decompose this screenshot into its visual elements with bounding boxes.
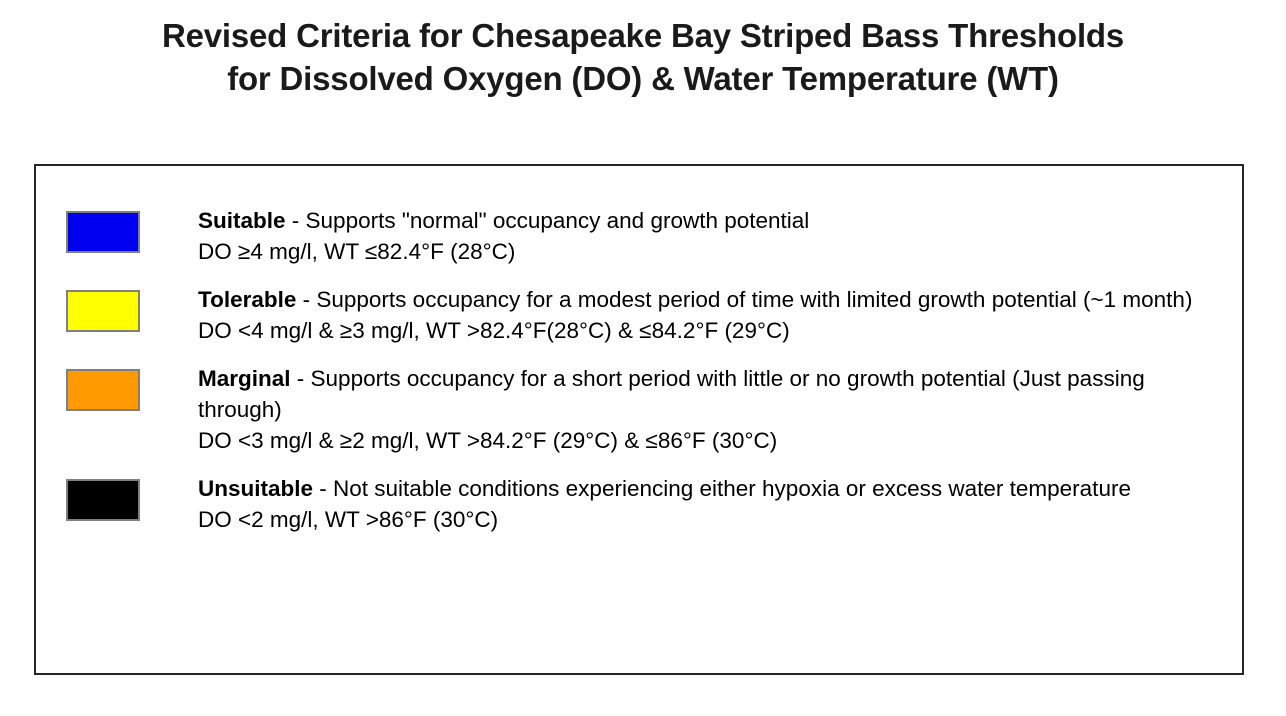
page-title-line-1: Revised Criteria for Chesapeake Bay Stri… bbox=[0, 14, 1286, 57]
legend-spec-suitable: DO ≥4 mg/l, WT ≤82.4°F (28°C) bbox=[198, 236, 1224, 267]
legend-text-unsuitable: Unsuitable - Not suitable conditions exp… bbox=[198, 473, 1224, 535]
legend-separator-unsuitable: - bbox=[313, 476, 333, 501]
color-swatch-marginal bbox=[66, 369, 140, 411]
legend-separator-suitable: - bbox=[286, 208, 306, 233]
legend-item-marginal: Marginal - Supports occupancy for a shor… bbox=[66, 363, 1224, 456]
legend-separator-tolerable: - bbox=[296, 287, 316, 312]
legend-term-marginal: Marginal bbox=[198, 366, 291, 391]
color-swatch-tolerable bbox=[66, 290, 140, 332]
legend-text-marginal: Marginal - Supports occupancy for a shor… bbox=[198, 363, 1224, 456]
legend-separator-marginal: - bbox=[291, 366, 311, 391]
legend-item-tolerable: Tolerable - Supports occupancy for a mod… bbox=[66, 284, 1224, 346]
color-swatch-unsuitable bbox=[66, 479, 140, 521]
legend-term-tolerable: Tolerable bbox=[198, 287, 296, 312]
legend-term-unsuitable: Unsuitable bbox=[198, 476, 313, 501]
legend-text-suitable: Suitable - Supports "normal" occupancy a… bbox=[198, 205, 1224, 267]
legend-item-unsuitable: Unsuitable - Not suitable conditions exp… bbox=[66, 473, 1224, 535]
color-swatch-suitable bbox=[66, 211, 140, 253]
slide-root: Revised Criteria for Chesapeake Bay Stri… bbox=[0, 0, 1286, 716]
legend-item-suitable: Suitable - Supports "normal" occupancy a… bbox=[66, 205, 1224, 267]
legend-spec-marginal: DO <3 mg/l & ≥2 mg/l, WT >84.2°F (29°C) … bbox=[198, 425, 1224, 456]
legend-text-tolerable: Tolerable - Supports occupancy for a mod… bbox=[198, 284, 1224, 346]
legend-panel: Suitable - Supports "normal" occupancy a… bbox=[34, 164, 1244, 675]
legend-list: Suitable - Supports "normal" occupancy a… bbox=[66, 205, 1224, 535]
legend-description-tolerable: Supports occupancy for a modest period o… bbox=[316, 287, 1192, 312]
legend-description-suitable: Supports "normal" occupancy and growth p… bbox=[306, 208, 810, 233]
legend-spec-tolerable: DO <4 mg/l & ≥3 mg/l, WT >82.4°F(28°C) &… bbox=[198, 315, 1224, 346]
legend-description-unsuitable: Not suitable conditions experiencing eit… bbox=[333, 476, 1131, 501]
legend-term-suitable: Suitable bbox=[198, 208, 286, 233]
page-title: Revised Criteria for Chesapeake Bay Stri… bbox=[0, 14, 1286, 100]
legend-spec-unsuitable: DO <2 mg/l, WT >86°F (30°C) bbox=[198, 504, 1224, 535]
page-title-line-2: for Dissolved Oxygen (DO) & Water Temper… bbox=[0, 57, 1286, 100]
legend-description-marginal: Supports occupancy for a short period wi… bbox=[198, 366, 1145, 422]
